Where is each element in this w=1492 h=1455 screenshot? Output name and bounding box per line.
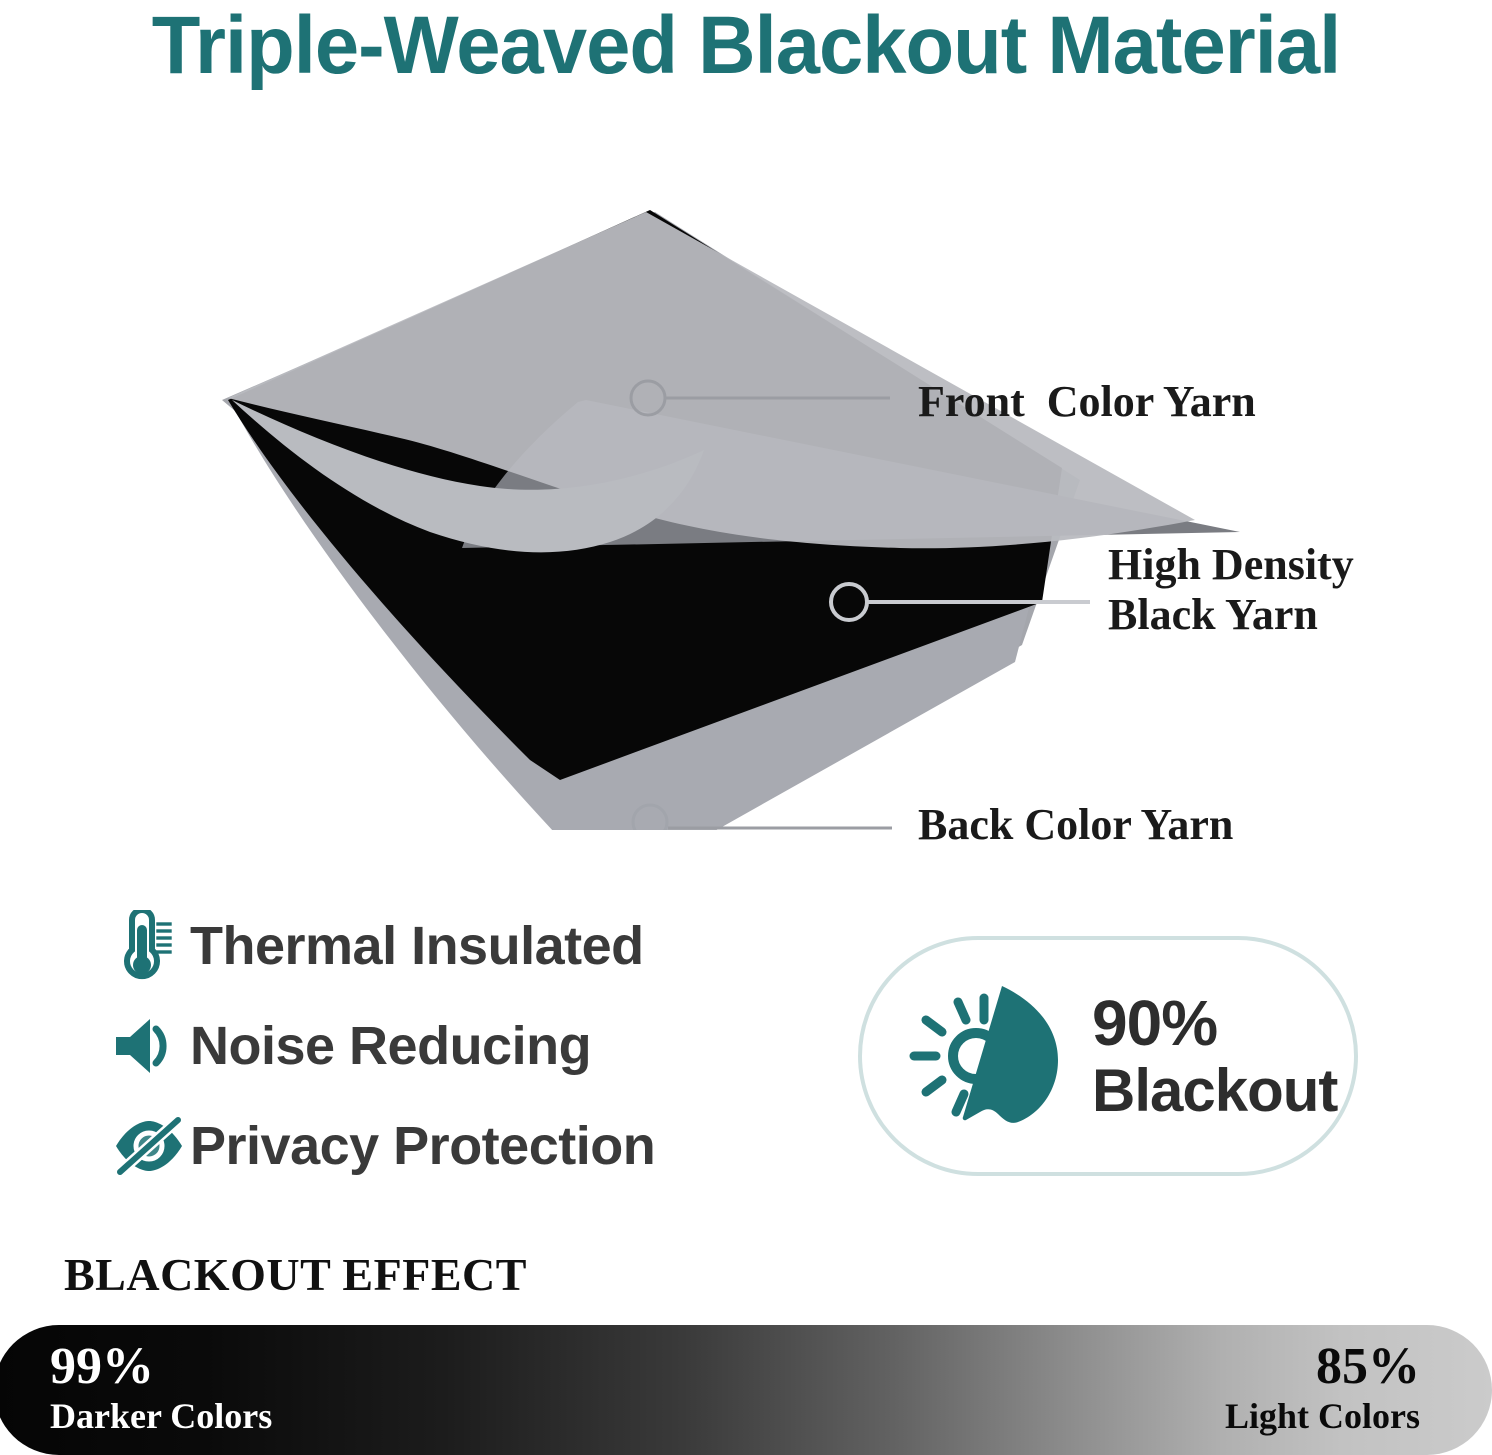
blackout-effect-gradient-bar: 99% Darker Colors 85% Light Colors xyxy=(0,1325,1492,1455)
blackout-badge-text: 90% Blackout xyxy=(1092,991,1337,1121)
light-colors-label: Light Colors xyxy=(1225,1395,1420,1437)
label-front-color-yarn: Front Color Yarn xyxy=(918,377,1256,427)
label-back-color-yarn: Back Color Yarn xyxy=(918,800,1233,850)
speaker-icon xyxy=(112,1010,190,1082)
blackout-effect-darker-colors: 99% Darker Colors xyxy=(50,1339,272,1437)
page-title: Triple-Weaved Blackout Material xyxy=(22,0,1469,94)
fabric-stack xyxy=(228,210,1245,830)
feature-label-noise-reducing: Noise Reducing xyxy=(190,1017,591,1075)
blackout-badge: 90% Blackout xyxy=(858,936,1358,1176)
fabric-layer-diagram: Front Color Yarn High Density Black Yarn… xyxy=(0,150,1492,830)
feature-item-noise-reducing: Noise Reducing xyxy=(112,996,772,1096)
sun-blocked-by-curtain-icon xyxy=(896,971,1086,1141)
darker-colors-label: Darker Colors xyxy=(50,1395,272,1437)
light-colors-percent: 85% xyxy=(1225,1339,1420,1395)
feature-label-privacy-protection: Privacy Protection xyxy=(190,1117,655,1175)
feature-item-thermal-insulated: Thermal Insulated xyxy=(112,896,772,996)
blackout-effect-light-colors: 85% Light Colors xyxy=(1225,1339,1420,1437)
feature-label-thermal-insulated: Thermal Insulated xyxy=(190,917,644,975)
thermometer-icon xyxy=(112,910,190,982)
label-high-density-black-yarn: High Density Black Yarn xyxy=(1108,540,1408,640)
darker-colors-percent: 99% xyxy=(50,1339,272,1395)
feature-list: Thermal Insulated Noise Reducing Privacy… xyxy=(112,896,772,1196)
label-high-density-line2: Black Yarn xyxy=(1108,590,1318,639)
feature-item-privacy-protection: Privacy Protection xyxy=(112,1096,772,1196)
eye-off-icon xyxy=(112,1110,190,1182)
blackout-effect-heading: BLACKOUT EFFECT xyxy=(64,1248,527,1302)
label-high-density-line1: High Density xyxy=(1108,540,1354,589)
blackout-percent: 90% xyxy=(1092,991,1337,1055)
blackout-word: Blackout xyxy=(1092,1061,1337,1121)
